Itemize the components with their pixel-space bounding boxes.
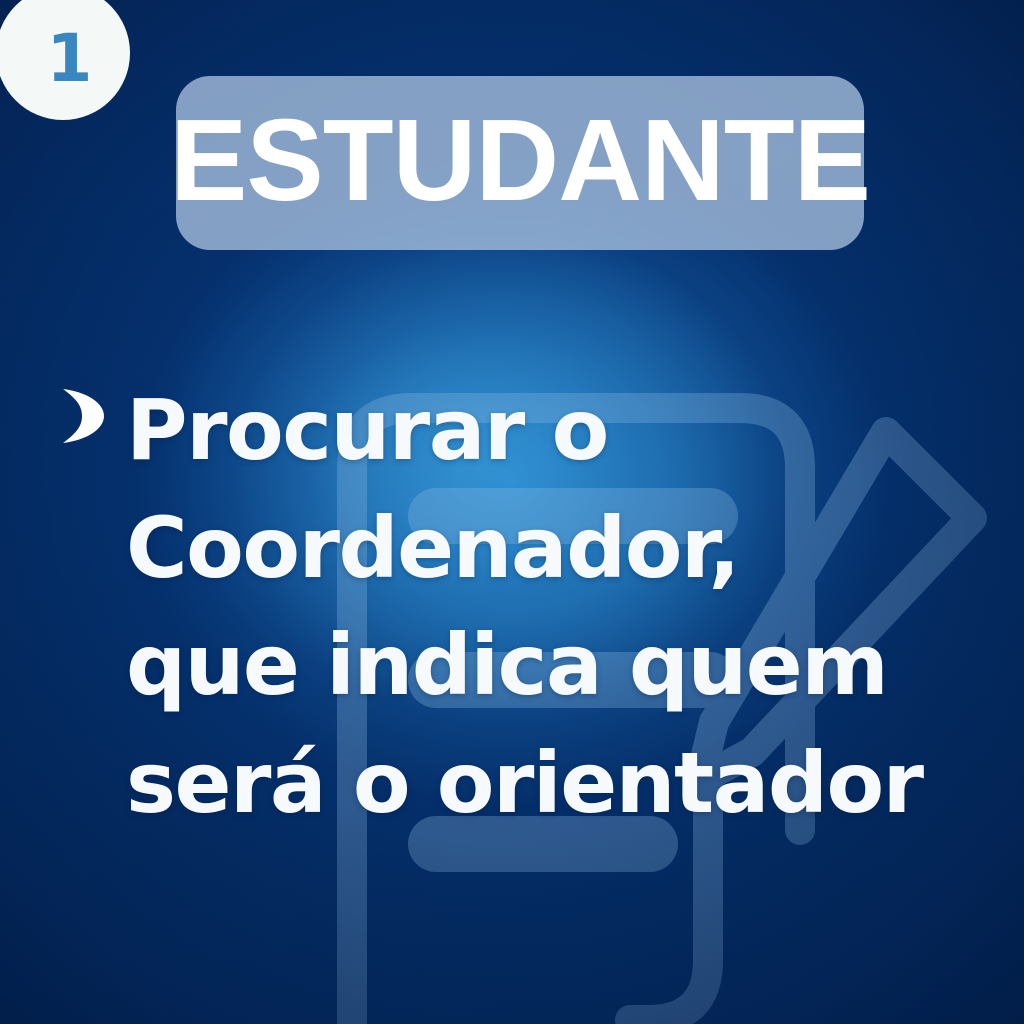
role-header-label: ESTUDANTE: [170, 102, 870, 218]
instruction-text: Procurar o Coordenador, que indica quem …: [126, 372, 1006, 842]
instruction-line-2: Coordenador,: [126, 490, 1006, 608]
role-header-pill: ESTUDANTE: [176, 76, 864, 250]
instruction-line-3: que indica quem: [126, 607, 1006, 725]
instruction-block: Procurar o Coordenador, que indica quem …: [56, 372, 1006, 842]
instruction-line-4: será o orientador: [126, 725, 1006, 843]
instruction-line-1: Procurar o: [126, 372, 1006, 490]
crescent-bullet-icon: [56, 386, 108, 446]
instruction-card: 1 ESTUDANTE Procurar o Coordenador, que …: [0, 0, 1024, 1024]
step-number-label: 1: [47, 26, 92, 92]
